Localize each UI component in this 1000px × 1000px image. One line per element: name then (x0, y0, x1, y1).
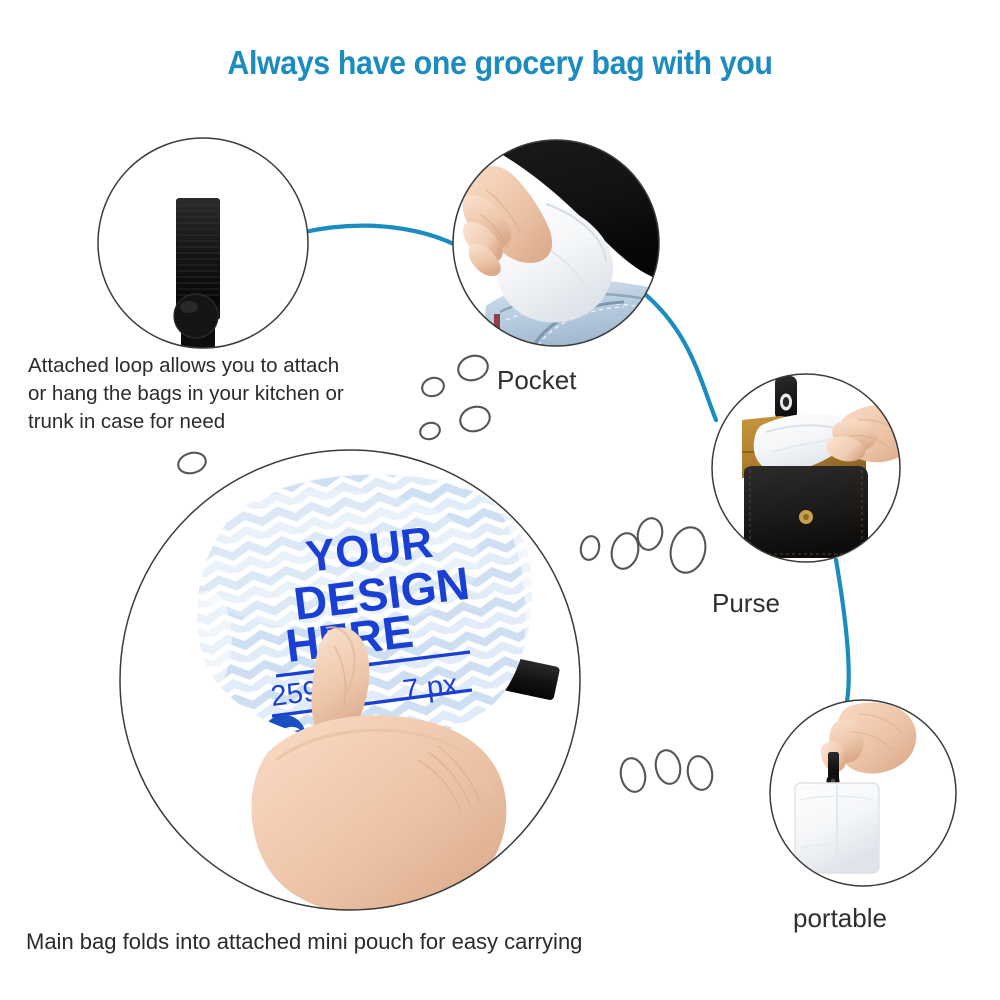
caption-loop-line-1: Attached loop allows you to attach (28, 352, 388, 380)
bubble (420, 375, 446, 399)
bubble (653, 748, 684, 786)
caption-main-bag: Main bag folds into attached mini pouch … (26, 928, 746, 956)
svg-text:7 px: 7 px (401, 668, 460, 707)
caption-attached-loop: Attached loop allows you to attach or ha… (28, 352, 388, 436)
circle-purse (710, 372, 916, 567)
infographic-artwork: YOUR DESIGN HERE 2599X 7 px (0, 0, 1000, 1000)
circle-loop (98, 138, 308, 348)
bubble (418, 420, 442, 441)
bubble (666, 524, 710, 577)
label-purse: Purse (712, 588, 780, 619)
bubble (578, 534, 601, 562)
circle-pocket (450, 130, 668, 353)
bubble (685, 754, 716, 792)
label-pocket: Pocket (497, 365, 577, 396)
infographic-canvas: YOUR DESIGN HERE 2599X 7 px (0, 0, 1000, 1000)
page-title: Always have one grocery bag with you (40, 44, 960, 82)
connector-loop-to-pocket (300, 226, 478, 258)
connector-pocket-to-purse (640, 290, 716, 420)
connector-purse-to-portable (836, 560, 849, 706)
circle-main-product: YOUR DESIGN HERE 2599X 7 px (118, 448, 584, 917)
label-portable: portable (793, 903, 887, 934)
bubble (176, 450, 208, 477)
bubble (457, 403, 493, 435)
bubble (618, 756, 649, 794)
caption-loop-line-2: or hang the bags in your kitchen or (28, 380, 388, 408)
caption-loop-line-3: trunk in case for need (28, 408, 388, 436)
circle-portable (768, 698, 960, 890)
bubble (455, 352, 491, 384)
